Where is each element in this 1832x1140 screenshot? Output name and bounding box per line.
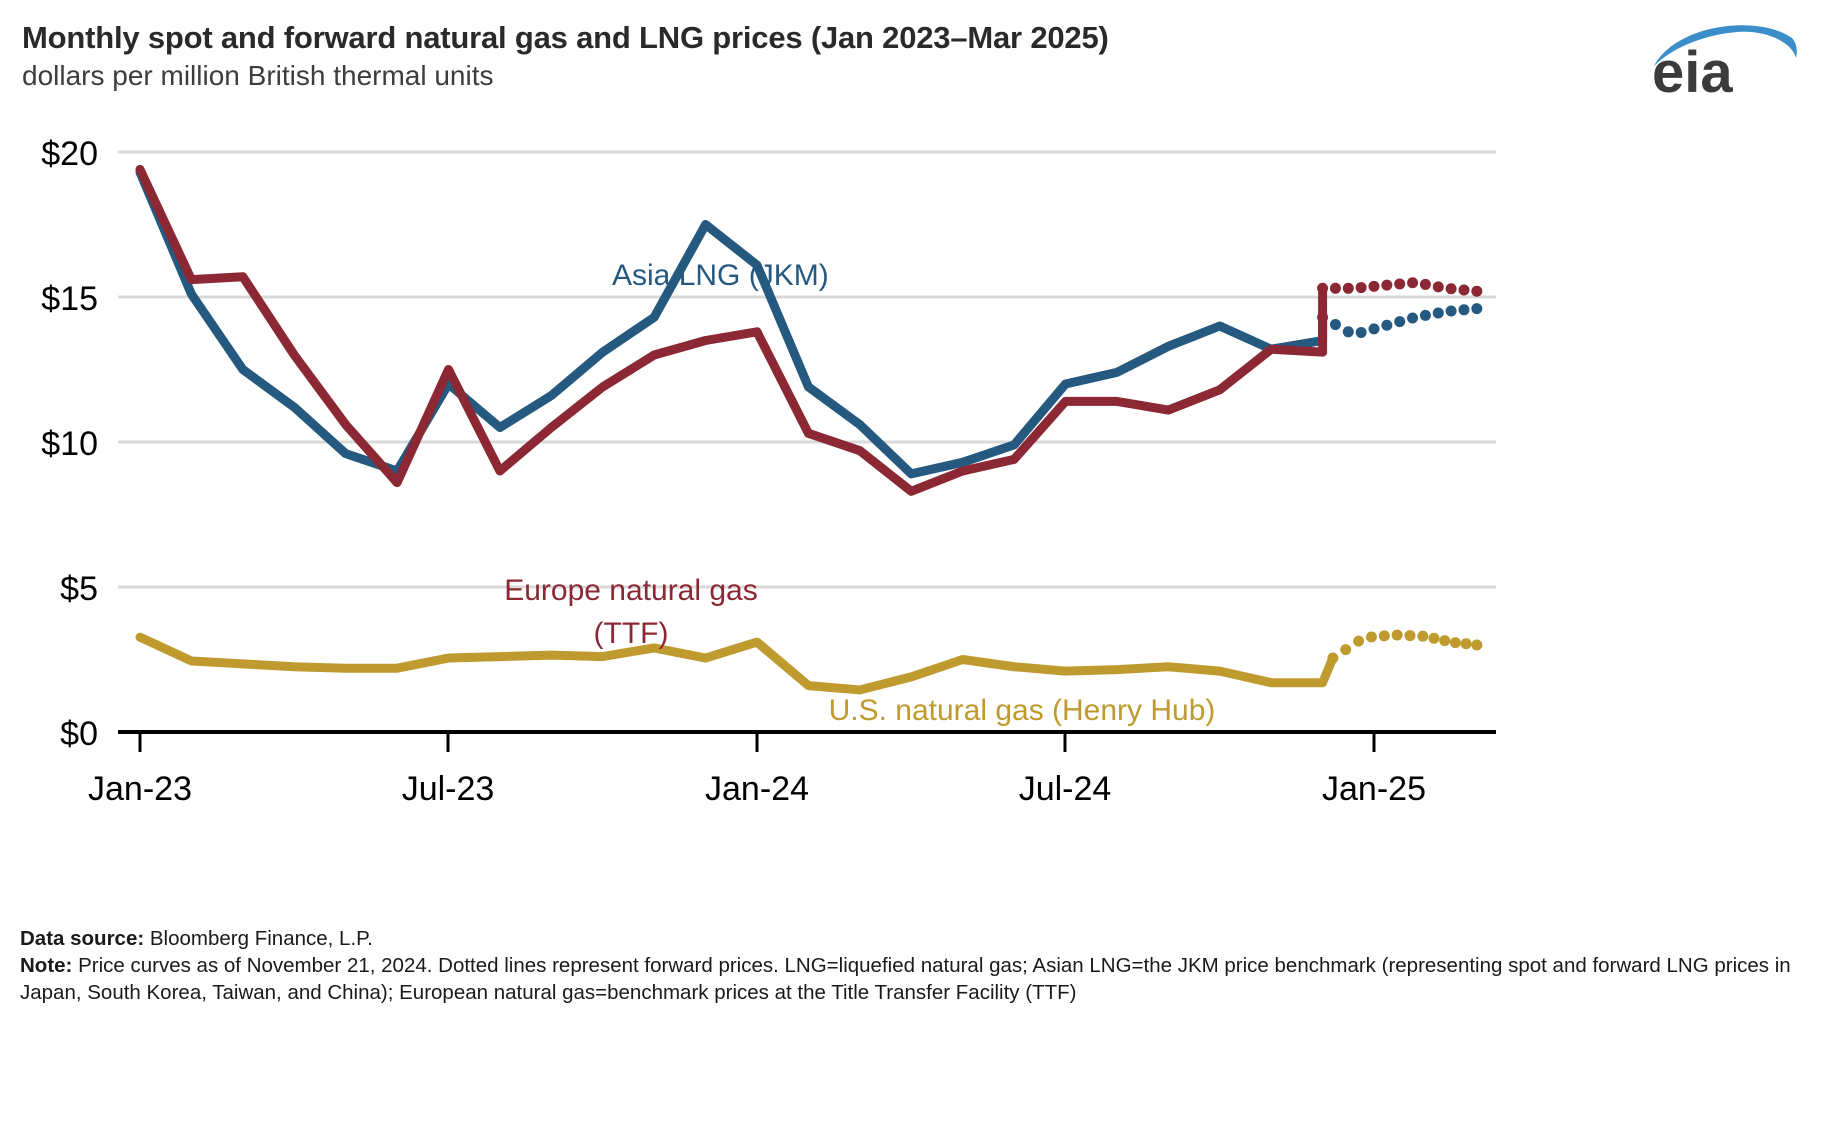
gridlines (118, 152, 1496, 587)
series-line-jkm (140, 172, 1323, 474)
forward-dot-henryhub (1450, 637, 1461, 648)
series-label-henryhub: U.S. natural gas (Henry Hub) (829, 694, 1216, 727)
forward-dot-henryhub (1428, 633, 1439, 644)
data-source-text: Bloomberg Finance, L.P. (144, 927, 373, 950)
series-line-henryhub (140, 637, 1323, 690)
forward-dot-ttf (1433, 281, 1444, 292)
price-chart: $20 $15 $10 $5 $0 Jan-23 Jul-23 Jan-24 J… (0, 100, 1560, 900)
forward-dot-jkm (1330, 319, 1341, 330)
series-henryhub (140, 629, 1482, 689)
y-tick-20: $20 (41, 135, 98, 173)
forward-dot-henryhub (1340, 644, 1351, 655)
title-segment-1: Monthly spot and forward (22, 20, 405, 55)
data-source-label: Data source: (20, 927, 144, 950)
page-subtitle: dollars per million British thermal unit… (22, 60, 494, 92)
x-tick-jan25: Jan-25 (1322, 770, 1426, 808)
forward-dot-jkm (1356, 327, 1367, 338)
forward-dot-ttf (1330, 283, 1341, 294)
forward-dot-ttf (1471, 286, 1482, 297)
y-tick-15: $15 (41, 280, 98, 318)
forward-dot-jkm (1394, 316, 1405, 327)
forward-dot-henryhub (1353, 636, 1364, 647)
note-text: Price curves as of November 21, 2024. Do… (20, 954, 1791, 1004)
y-tick-0: $0 (60, 715, 98, 753)
forward-dot-ttf (1394, 278, 1405, 289)
title-segment-3: prices (Jan 2023–Mar 2025) (704, 20, 1109, 55)
x-tick-jan24: Jan-24 (705, 770, 809, 808)
forward-dot-henryhub (1392, 629, 1403, 640)
forward-dot-ttf (1317, 283, 1328, 294)
data-source-line: Data source: Bloomberg Finance, L.P. (20, 925, 1815, 952)
forward-dot-henryhub (1366, 632, 1377, 643)
forward-dot-jkm (1446, 306, 1457, 317)
forward-dot-jkm (1381, 320, 1392, 331)
forward-dot-ttf (1407, 277, 1418, 288)
forward-dot-henryhub (1471, 640, 1482, 651)
forward-dot-ttf (1446, 283, 1457, 294)
forward-dot-jkm (1420, 310, 1431, 321)
forward-dot-jkm (1433, 307, 1444, 318)
forward-dot-henryhub (1327, 653, 1338, 664)
eia-logo-text: eia (1652, 40, 1733, 98)
forward-dot-henryhub (1439, 635, 1450, 646)
note-line: Note: Price curves as of November 21, 20… (20, 952, 1815, 1006)
y-tick-5: $5 (60, 570, 98, 608)
series-label-jkm: Asia LNG (JKM) (612, 259, 829, 292)
note-label: Note: (20, 954, 72, 977)
page-title: Monthly spot and forward natural gas and… (22, 20, 1109, 56)
series-label-ttf-line1: Europe natural gas (504, 574, 758, 607)
series-label-ttf-line2: (TTF) (594, 617, 669, 650)
forward-dot-ttf (1458, 284, 1469, 295)
forward-dot-henryhub (1461, 638, 1472, 649)
x-tick-jul24: Jul-24 (1019, 770, 1112, 808)
forward-dot-ttf (1381, 280, 1392, 291)
chart-page: Monthly spot and forward natural gas and… (0, 0, 1832, 1140)
x-tick-jan23: Jan-23 (88, 770, 192, 808)
forward-dot-ttf (1356, 282, 1367, 293)
forward-dot-ttf (1343, 283, 1354, 294)
forward-dot-henryhub (1417, 631, 1428, 642)
series-jkm (140, 172, 1482, 474)
series-layer (140, 169, 1482, 690)
y-tick-10: $10 (41, 425, 98, 463)
forward-dot-ttf (1369, 281, 1380, 292)
forward-dot-henryhub (1379, 630, 1390, 641)
y-axis-labels: $20 $15 $10 $5 $0 (41, 135, 98, 753)
x-tick-jul23: Jul-23 (402, 770, 495, 808)
forward-dot-jkm (1407, 313, 1418, 324)
forward-dot-henryhub (1404, 630, 1415, 641)
forward-dot-jkm (1471, 303, 1482, 314)
forward-dot-ttf (1420, 279, 1431, 290)
forward-dot-jkm (1458, 304, 1469, 315)
eia-logo: eia (1646, 16, 1806, 98)
x-axis (118, 732, 1496, 752)
footer-notes: Data source: Bloomberg Finance, L.P. Not… (20, 925, 1815, 1006)
forward-dot-jkm (1369, 323, 1380, 334)
title-segment-2: natural gas and LNG (405, 20, 704, 55)
forward-dot-jkm (1343, 326, 1354, 337)
x-axis-labels: Jan-23 Jul-23 Jan-24 Jul-24 Jan-25 (88, 770, 1426, 808)
